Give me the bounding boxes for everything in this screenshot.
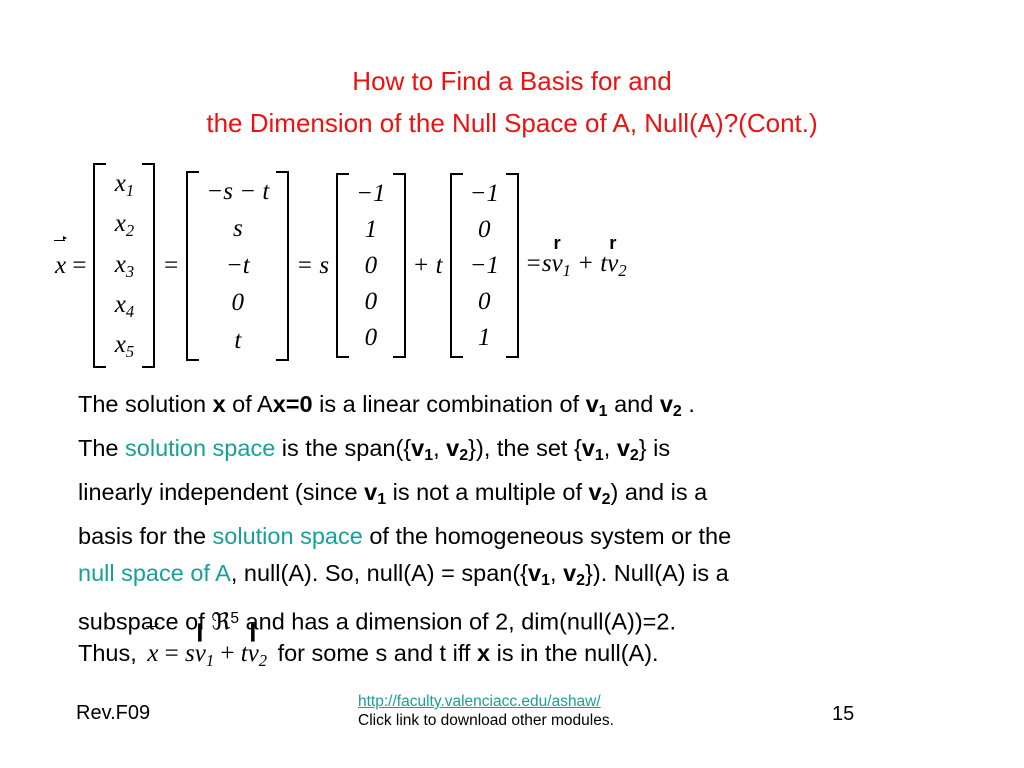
equals-sign-2: = [525,250,542,277]
result-v2: rv [607,250,618,278]
body-text-line2-b: is the span({ [275,435,411,461]
body-text-line2-a: The [78,435,125,461]
matrix-row: 0 [356,252,385,279]
thus-scalar-t: t [241,640,248,667]
body-text-line3-b: is not a multiple of [386,479,588,505]
thus-suffix-a: for some s and t iff [271,640,477,666]
body-text-line4-a: basis for the [78,523,213,549]
result-v1-base: v [552,250,563,277]
result-v2-base: v [607,250,618,277]
body-text-line3-c: ) and is a [611,479,708,505]
matrix-row: −t [206,252,269,279]
body-v1-c: v1 [364,479,386,505]
equals-sign-1: = [157,252,184,280]
body-v2-d: v2 [563,560,585,586]
body-v2-b: v2 [446,435,468,461]
body-line6-equals: = [643,608,657,634]
body-v1-b: v1 [411,435,433,461]
matrix-row: 1 [356,216,385,243]
matrix-row: 0 [356,324,385,351]
thus-v1: ❙v [195,637,206,670]
matrix-row: x2 [113,210,135,240]
body-v1d-base: v [528,560,541,586]
body-bold-x2: x [273,391,286,417]
body-text-line5-a: , null(A). So, null(A) [231,560,441,586]
thus-v2-sub: 2 [259,651,267,670]
body-v1b-sub: 1 [424,447,433,464]
body-text-line1-end: . [682,391,695,417]
result-scalar-t: t [600,250,607,277]
body-v2c-base: v [589,479,602,505]
body-v2-base: v [660,391,673,417]
body-bold-x: x [213,391,226,417]
body-v1-base: v [586,391,599,417]
link-caption: Click link to download other modules. [358,711,614,730]
body-text-line1-c: of A [226,391,273,417]
body-comma-3: , [550,560,563,586]
slide-title: How to Find a Basis for and the Dimensio… [0,60,1024,144]
thus-x-vector: x [147,637,158,670]
matrix-row: 0 [470,216,499,243]
matrix-cell-sub: 4 [126,302,134,321]
title-line-2: the Dimension of the Null Space of A, Nu… [0,102,1024,144]
matrix-row: x5 [113,331,135,361]
highlight-solution-space-1: solution space [125,435,275,461]
body-v4-base: v [617,435,630,461]
matrix-cell-sub: 2 [126,221,134,240]
scalar-t-term: + t [408,252,448,280]
body-text-line5-c: }). Null(A) is a [585,560,729,586]
body-comma: , [433,435,446,461]
matrix-row: 0 [356,288,385,315]
matrix-row: x4 [113,291,135,321]
matrix-row: −s − t [206,178,269,205]
thus-v1-base: v [195,640,206,667]
page-number: 15 [832,703,854,726]
matrix-row: −1 [470,180,499,207]
matrix-row: x1 [113,170,135,200]
thus-inline-equation: x = s❙v1 + t❙v2 [143,640,271,667]
body-text-line6-a: subspace of [78,608,211,634]
body-v2c-sub: 2 [602,491,611,508]
thus-scalar-s: s [185,640,195,667]
body-v3-base: v [582,435,595,461]
body-text-line1-g: is a linear combination of [313,391,586,417]
body-bold-equals: = [286,391,300,417]
result-v2-sub: 2 [618,261,626,280]
highlight-null-space-of-a: null space of A [78,560,231,586]
body-text-line2-d: } is [639,435,670,461]
matrix-row: 0 [470,288,499,315]
vector-bar-fallback-glyph: ❙ [245,623,260,641]
body-v1-d: v1 [528,560,550,586]
body-v1b-base: v [411,435,424,461]
matrix-v2: −1 0 −1 0 1 [450,173,519,358]
thus-statement: Thus, x = s❙v1 + t❙v2 for some s and t i… [78,637,659,677]
vector-arrow-fallback-glyph: r [554,234,561,253]
body-paragraph: The solution x of Ax=0 is a linear combi… [78,386,978,640]
x-vector-label: x [55,252,66,280]
body-text-line3-a: linearly independent (since [78,479,364,505]
highlight-solution-space-2: solution space [213,523,363,549]
equation-result: =srv1 + trv2 [521,250,627,281]
matrix-row: 1 [470,324,499,351]
vector-bar-fallback-glyph: ❙ [193,623,208,641]
result-scalar-s: s [542,250,552,277]
body-text-line1-a: The solution [78,391,213,417]
body-v1d-sub: 1 [541,573,550,590]
body-text-line6-b: and has a dimension of 2, dim(null(A)) [239,608,643,634]
matrix-row: −1 [356,180,385,207]
body-v4: v2 [617,435,639,461]
body-v2-sub: 2 [673,403,682,420]
body-comma-2: , [604,435,617,461]
thus-v2: ❙v [248,637,259,670]
result-plus: + [577,250,594,277]
matrix-row: −1 [470,252,499,279]
equation-lhs: x = [50,252,91,280]
matrix-parametric: −s − t s −t 0 t [186,171,289,361]
thus-bold-x: x [477,640,490,666]
matrix-x-components: x1 x2 x3 x4 x5 [93,163,155,368]
body-v2b-base: v [446,435,459,461]
matrix-row: t [206,327,269,354]
real-numbers-exponent: 5 [230,610,239,627]
body-v1: v1 [586,391,608,417]
body-v3-sub: 1 [595,447,604,464]
thus-v2-base: v [248,640,259,667]
thus-v1-sub: 1 [206,651,214,670]
revision-label: Rev.F09 [76,702,150,725]
body-text-and: and [608,391,660,417]
body-v2d-base: v [563,560,576,586]
body-v2d-sub: 2 [576,573,585,590]
matrix-cell-sub: 5 [126,342,134,361]
title-line-1: How to Find a Basis for and [0,60,1024,102]
body-v2b-sub: 2 [459,447,468,464]
footer-link-block: http://faculty.valenciacc.edu/ashaw/ Cli… [358,692,614,730]
body-v2: v2 [660,391,682,417]
slide-canvas: How to Find a Basis for and the Dimensio… [0,0,1024,768]
body-v3: v1 [582,435,604,461]
real-numbers-symbol: ℜ [211,607,230,635]
matrix-row: x3 [113,251,135,281]
faculty-site-link[interactable]: http://faculty.valenciacc.edu/ashaw/ [358,692,614,711]
body-bold-zero: 0 [300,391,313,417]
thus-plus: + [220,640,234,667]
vector-arrow-fallback-glyph: r [609,234,616,253]
body-v1c-base: v [364,479,377,505]
thus-prefix: Thus, [78,640,143,666]
body-v1c-sub: 1 [377,491,386,508]
scalar-s-term: = s [291,252,334,280]
body-text-line2-c: }), the set { [468,435,582,461]
body-v1-sub: 1 [599,403,608,420]
vector-equation: x = x1 x2 x3 x4 x5 = −s − t s −t 0 t = s… [50,158,627,373]
body-text-line5-b: span({ [455,560,528,586]
matrix-row: 0 [206,289,269,316]
result-v1-sub: 1 [563,261,571,280]
thus-equals: = [165,640,179,667]
matrix-row: s [206,215,269,242]
matrix-v1: −1 1 0 0 0 [336,173,405,358]
matrix-cell-sub: 1 [126,181,134,200]
result-v1: rv [552,250,563,278]
body-line5-equals: = [441,560,455,586]
thus-suffix-c: is in the null(A). [490,640,658,666]
body-text-line4-b: of the homogeneous system or the [363,523,731,549]
body-v4-sub: 2 [630,447,639,464]
matrix-cell-sub: 3 [126,262,134,281]
body-v2-c: v2 [589,479,611,505]
body-text-line6-c: 2. [656,608,676,634]
